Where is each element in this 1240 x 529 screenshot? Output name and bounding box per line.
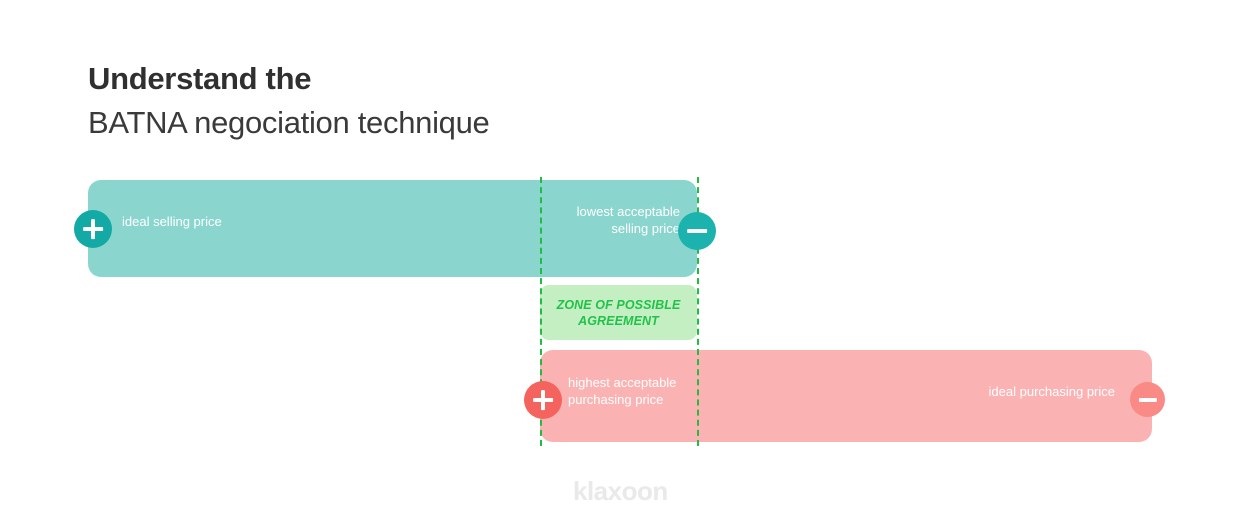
- seller-minus-badge: [678, 212, 716, 250]
- seller-lowest-acceptable-price-label: lowest acceptable selling price: [545, 203, 680, 237]
- seller-plus-badge: [74, 210, 112, 248]
- buyer-plus-badge: [524, 381, 562, 419]
- klaxoon-watermark: klaxoon: [573, 476, 668, 507]
- title-line-secondary: BATNA negociation technique: [88, 101, 490, 145]
- diagram-canvas: Understand the BATNA negociation techniq…: [0, 0, 1240, 529]
- minus-icon: [678, 212, 716, 250]
- buyer-highest-acceptable-price-label: highest acceptable purchasing price: [568, 374, 686, 408]
- seller-ideal-selling-price-label: ideal selling price: [122, 213, 242, 230]
- buyer-ideal-purchasing-price-label: ideal purchasing price: [975, 383, 1115, 400]
- page-title: Understand the BATNA negociation techniq…: [88, 57, 490, 145]
- zopa-label: ZONE OF POSSIBLE AGREEMENT: [540, 297, 697, 329]
- plus-icon: [74, 210, 112, 248]
- plus-icon: [524, 381, 562, 419]
- title-line-primary: Understand the: [88, 57, 490, 101]
- buyer-minus-badge: [1130, 382, 1165, 417]
- minus-icon: [1130, 382, 1165, 417]
- zone-of-possible-agreement-box: ZONE OF POSSIBLE AGREEMENT: [540, 285, 697, 340]
